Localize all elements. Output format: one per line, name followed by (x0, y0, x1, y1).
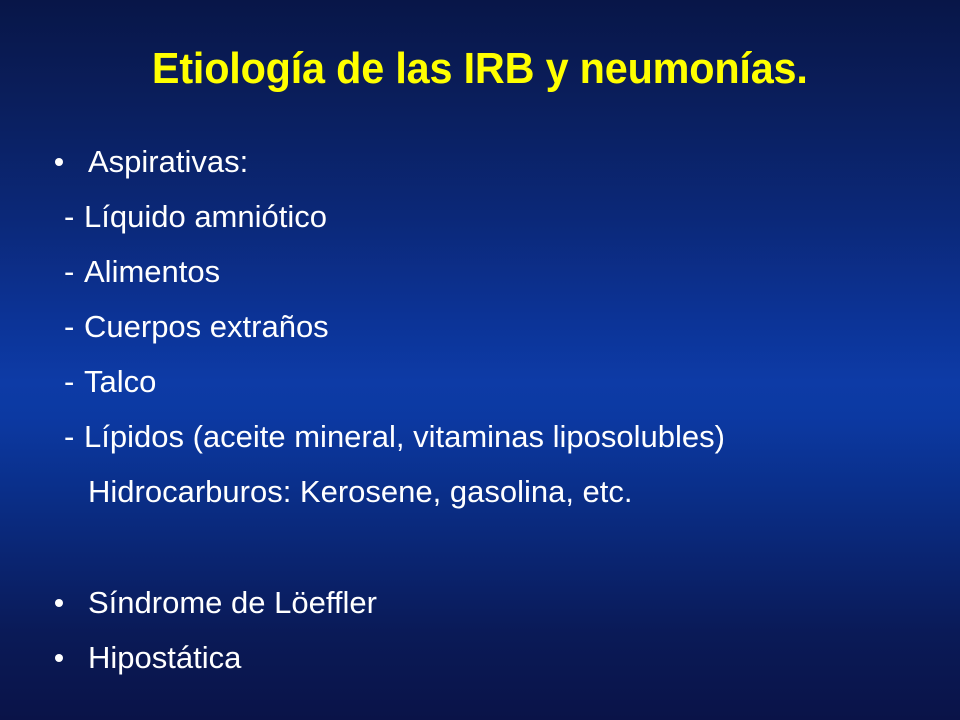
dash-marker-icon: - (64, 189, 84, 244)
dash-marker-icon: - (64, 244, 84, 299)
dash-marker-icon: - (64, 299, 84, 354)
list-item-label: Líquido amniótico (84, 189, 327, 244)
list-item: -Cuerpos extraños (0, 299, 960, 354)
list-item-label: Lípidos (aceite mineral, vitaminas lipos… (84, 409, 725, 464)
dash-marker-icon: - (64, 409, 84, 464)
list-item-label: Cuerpos extraños (84, 299, 329, 354)
bullet-dot-icon (55, 654, 63, 662)
list-item-label: Hidrocarburos: Kerosene, gasolina, etc. (88, 464, 633, 519)
list-item-label: Aspirativas: (88, 134, 248, 189)
list-item: Hidrocarburos: Kerosene, gasolina, etc. (0, 464, 960, 519)
list-item: Síndrome de Löeffler (0, 575, 960, 630)
presentation-slide: Etiología de las IRB y neumonías. Aspira… (0, 0, 960, 720)
dash-marker-icon: - (64, 354, 84, 409)
list-item: Aspirativas: (0, 134, 960, 189)
list-item: -Líquido amniótico (0, 189, 960, 244)
list-item-label: Hipostática (88, 630, 241, 685)
page-title: Etiología de las IRB y neumonías. (152, 44, 808, 94)
list-item: -Lípidos (aceite mineral, vitaminas lipo… (0, 409, 960, 464)
list-item-label: Alimentos (84, 244, 220, 299)
list-item-label: Talco (84, 354, 156, 409)
slide-body-list: Aspirativas:-Líquido amniótico-Alimentos… (0, 134, 960, 685)
list-item: -Alimentos (0, 244, 960, 299)
bullet-dot-icon (55, 599, 63, 607)
bullet-dot-icon (55, 158, 63, 166)
slide-title-block: Etiología de las IRB y neumonías. (0, 44, 960, 94)
list-item: -Talco (0, 354, 960, 409)
blank-line (0, 519, 960, 575)
list-item-label: Síndrome de Löeffler (88, 575, 377, 630)
list-item: Hipostática (0, 630, 960, 685)
